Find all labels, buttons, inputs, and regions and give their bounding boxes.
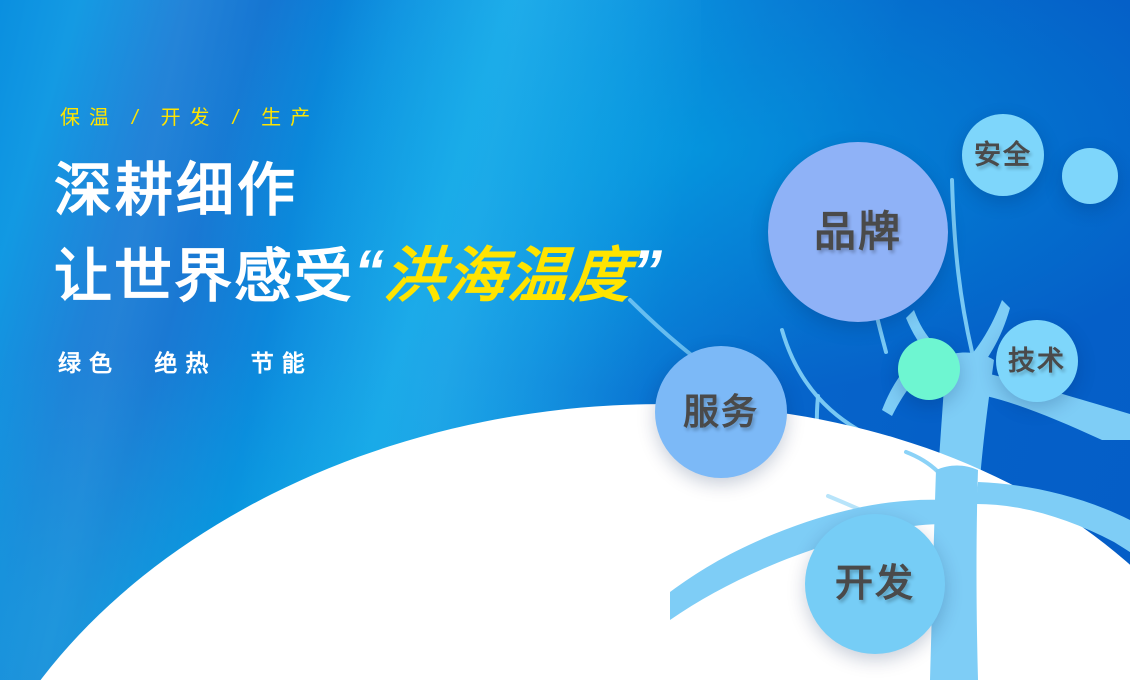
eyebrow-separator-1: / <box>118 107 161 129</box>
subline-item-1: 绿色 <box>58 350 120 376</box>
subline-keywords: 绿色 绝热 节能 <box>58 352 772 375</box>
hero-banner: 品牌 安全 技术 服务 开发 保温/开发/生产 深耕细作 让世界感受“洪海温度”… <box>0 0 1130 680</box>
eyebrow-item-2: 开发 <box>161 107 219 129</box>
eyebrow-item-1: 保温 <box>60 107 118 129</box>
headline-line-2-prefix: 让世界感受 <box>54 248 354 306</box>
subline-gap-2 <box>216 350 250 376</box>
quote-open-mark: “ <box>354 242 384 302</box>
subline-gap-1 <box>120 350 154 376</box>
eyebrow-separator-2: / <box>219 107 262 129</box>
eyebrow-tagline: 保温/开发/生产 <box>60 108 772 128</box>
hero-text-block: 保温/开发/生产 深耕细作 让世界感受“洪海温度” 绿色 绝热 节能 <box>52 108 772 375</box>
subline-item-3: 节能 <box>251 350 313 376</box>
balloon-development-label: 开发 <box>835 565 915 603</box>
subline-item-2: 绝热 <box>154 350 216 376</box>
headline-line-1: 深耕细作 <box>54 162 772 220</box>
balloon-development[interactable]: 开发 <box>805 514 945 654</box>
eyebrow-item-3: 生产 <box>261 107 319 129</box>
quote-close-mark: ” <box>632 242 662 302</box>
headline-line-2: 让世界感受“洪海温度” <box>54 246 772 306</box>
headline-highlight: 洪海温度 <box>382 246 634 306</box>
